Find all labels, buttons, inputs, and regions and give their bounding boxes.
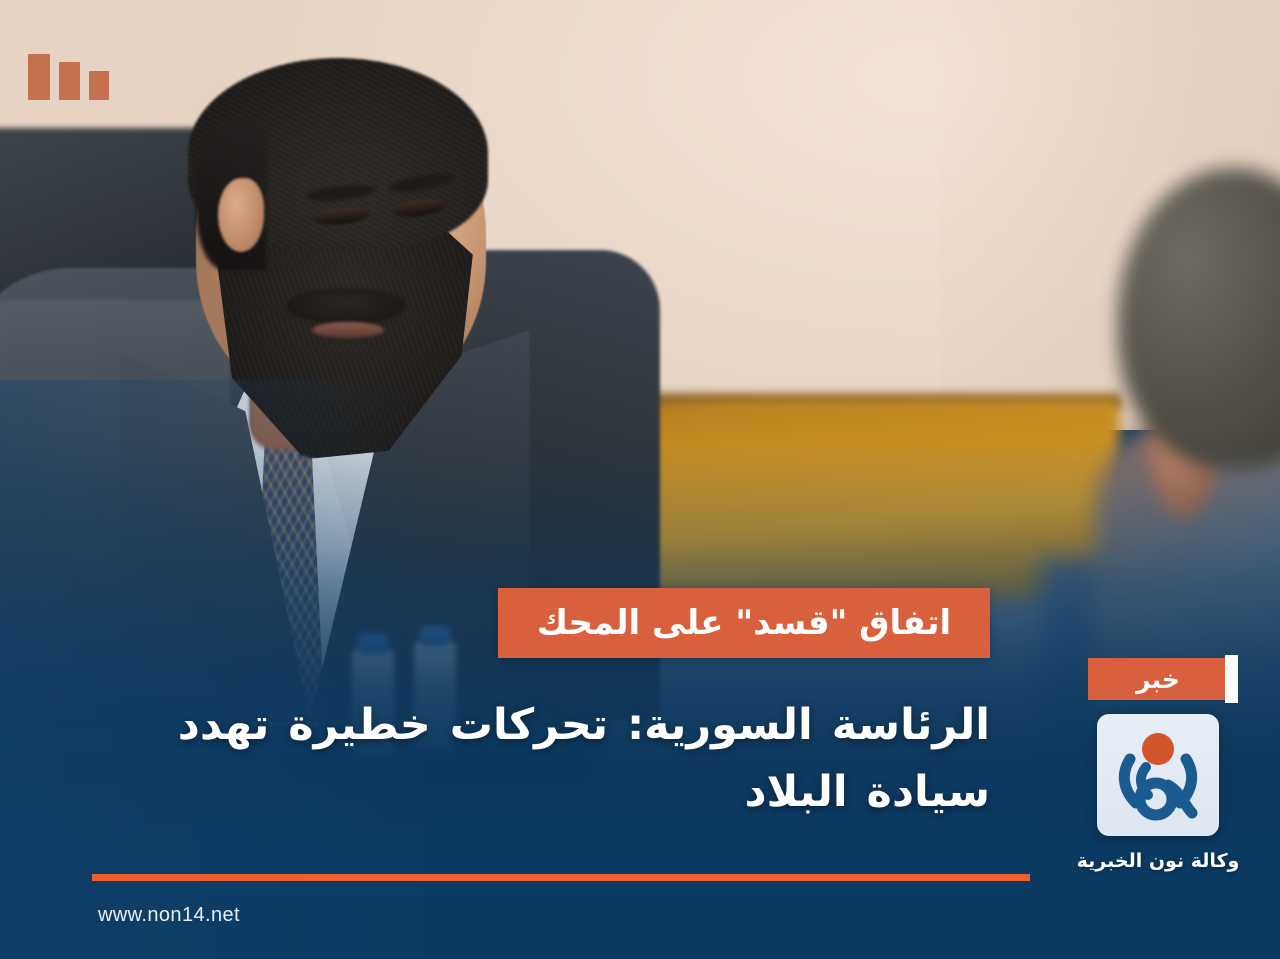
headline-line-1: الرئاسة السورية: تحركات خطيرة تهدد	[60, 692, 990, 759]
logo-left-arc	[1124, 759, 1136, 803]
news-badge-label: خبر	[1136, 665, 1180, 694]
news-card: اتفاق "قسد" على المحك الرئاسة السورية: ت…	[0, 0, 1280, 959]
agency-name: وكالة نون الخبرية	[1077, 850, 1240, 872]
logo-bar-1	[28, 54, 50, 100]
noon-logo-icon	[1106, 723, 1210, 827]
kicker-banner: اتفاق "قسد" على المحك	[498, 588, 990, 658]
headline-line-2: سيادة البلاد	[60, 759, 990, 826]
website-url[interactable]: www.non14.net	[98, 904, 240, 927]
headline: الرئاسة السورية: تحركات خطيرة تهدد سيادة…	[60, 692, 990, 825]
logo-dot	[1142, 733, 1174, 765]
kicker-text: اتفاق "قسد" على المحك	[537, 603, 951, 643]
agency-logo-tile	[1097, 714, 1219, 836]
news-badge: خبر	[1088, 658, 1228, 700]
brand-block: خبر وكالة نون الخبرية	[1058, 658, 1258, 872]
logo-bar-2	[59, 62, 80, 100]
orange-divider	[92, 874, 1030, 881]
logo-bar-3	[89, 71, 109, 100]
blue-gradient-left	[0, 380, 420, 959]
three-bars-logo-icon	[28, 54, 109, 100]
